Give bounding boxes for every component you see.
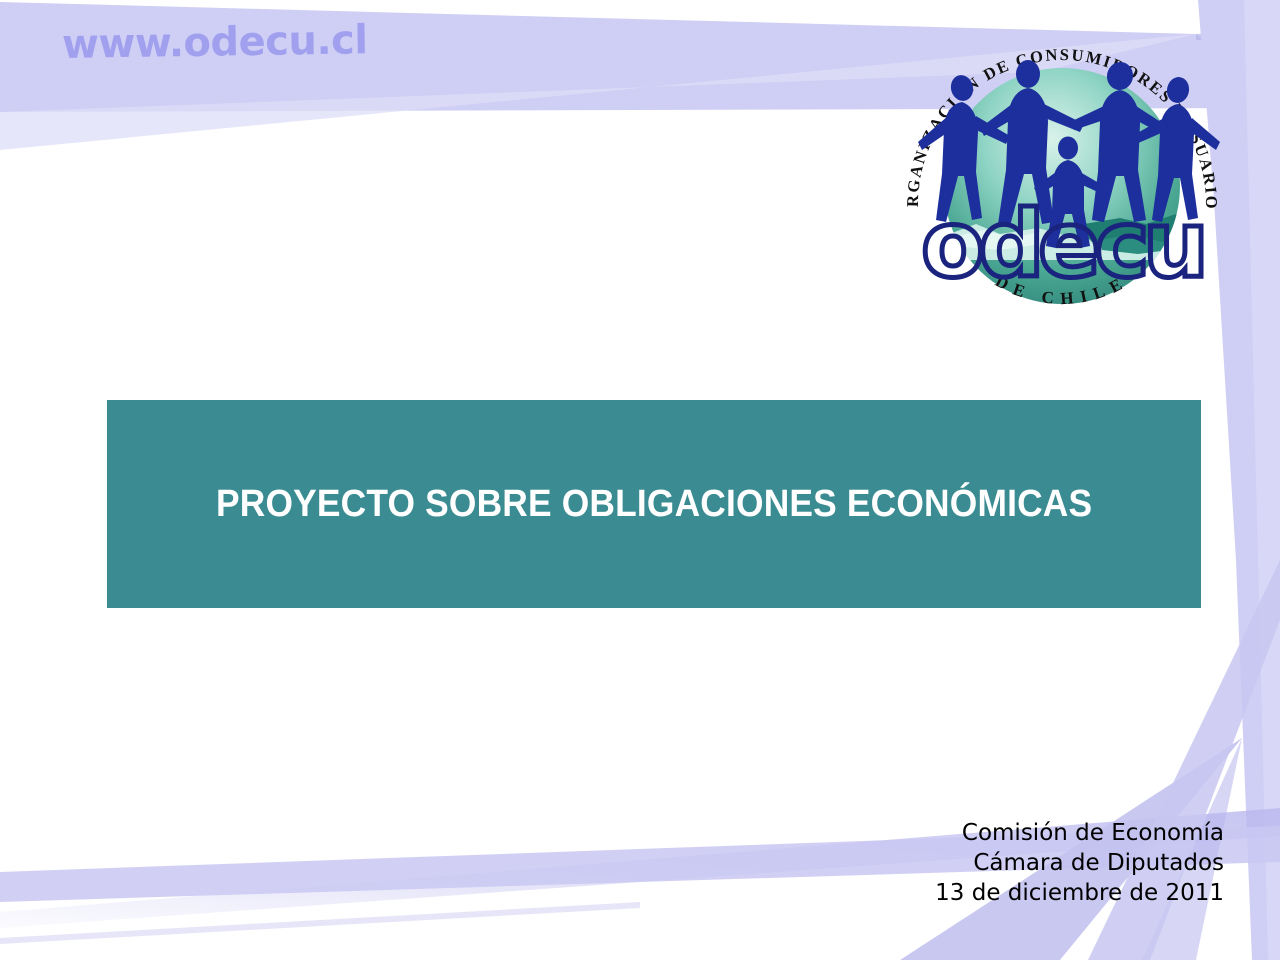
slide-title-bar: PROYECTO SOBRE OBLIGACIONES ECONÓMICAS: [107, 400, 1201, 608]
footer-line-date: 13 de diciembre de 2011: [935, 878, 1224, 908]
decor-bottom-hairline: [0, 902, 640, 944]
presentation-slide: www.odecu.cl ORGANIZACIÓ: [0, 0, 1280, 960]
slide-footer: Comisión de Economía Cámara de Diputados…: [935, 818, 1224, 908]
website-url: www.odecu.cl: [62, 17, 368, 68]
odecu-logo: ORGANIZACIÓN DE CONSUMIDORES Y USUARIOS …: [888, 24, 1236, 334]
decor-right-inner-band: [1244, 0, 1280, 960]
logo-wordmark: odecu: [921, 191, 1203, 298]
slide-title: PROYECTO SOBRE OBLIGACIONES ECONÓMICAS: [216, 483, 1092, 526]
footer-line-chamber: Cámara de Diputados: [935, 848, 1224, 878]
footer-line-commission: Comisión de Economía: [935, 818, 1224, 848]
